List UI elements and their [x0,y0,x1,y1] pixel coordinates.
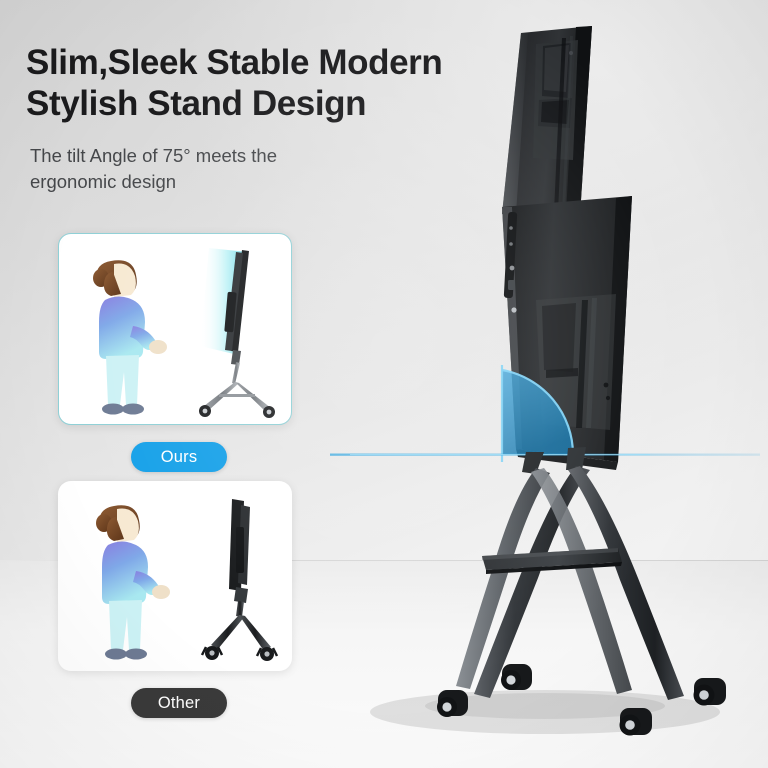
other-illustration [58,481,292,671]
subtitle-line-1: The tilt Angle of 75° meets the [30,143,360,169]
ours-illustration [59,234,292,425]
other-stand-illustration [202,499,277,661]
ours-stand-illustration [199,248,275,418]
comparison-card-ours [58,233,292,425]
person-figure-other [96,505,170,659]
caster-wheel-2 [501,664,532,690]
caster-wheel-3 [620,708,653,736]
subtitle-line-2: ergonomic design [30,169,360,195]
product-illustration: 75° [330,0,768,768]
badge-ours: Ours [131,442,227,472]
badge-other-label: Other [158,694,200,713]
person-figure-ours [93,260,167,414]
badge-ours-label: Ours [161,448,198,467]
badge-other: Other [131,688,227,718]
page-subtitle: The tilt Angle of 75° meets the ergonomi… [30,143,360,194]
caster-wheel-1 [437,690,468,717]
caster-wheel-4 [694,678,727,706]
display-upper-rear [502,26,592,216]
comparison-card-other [58,481,292,671]
